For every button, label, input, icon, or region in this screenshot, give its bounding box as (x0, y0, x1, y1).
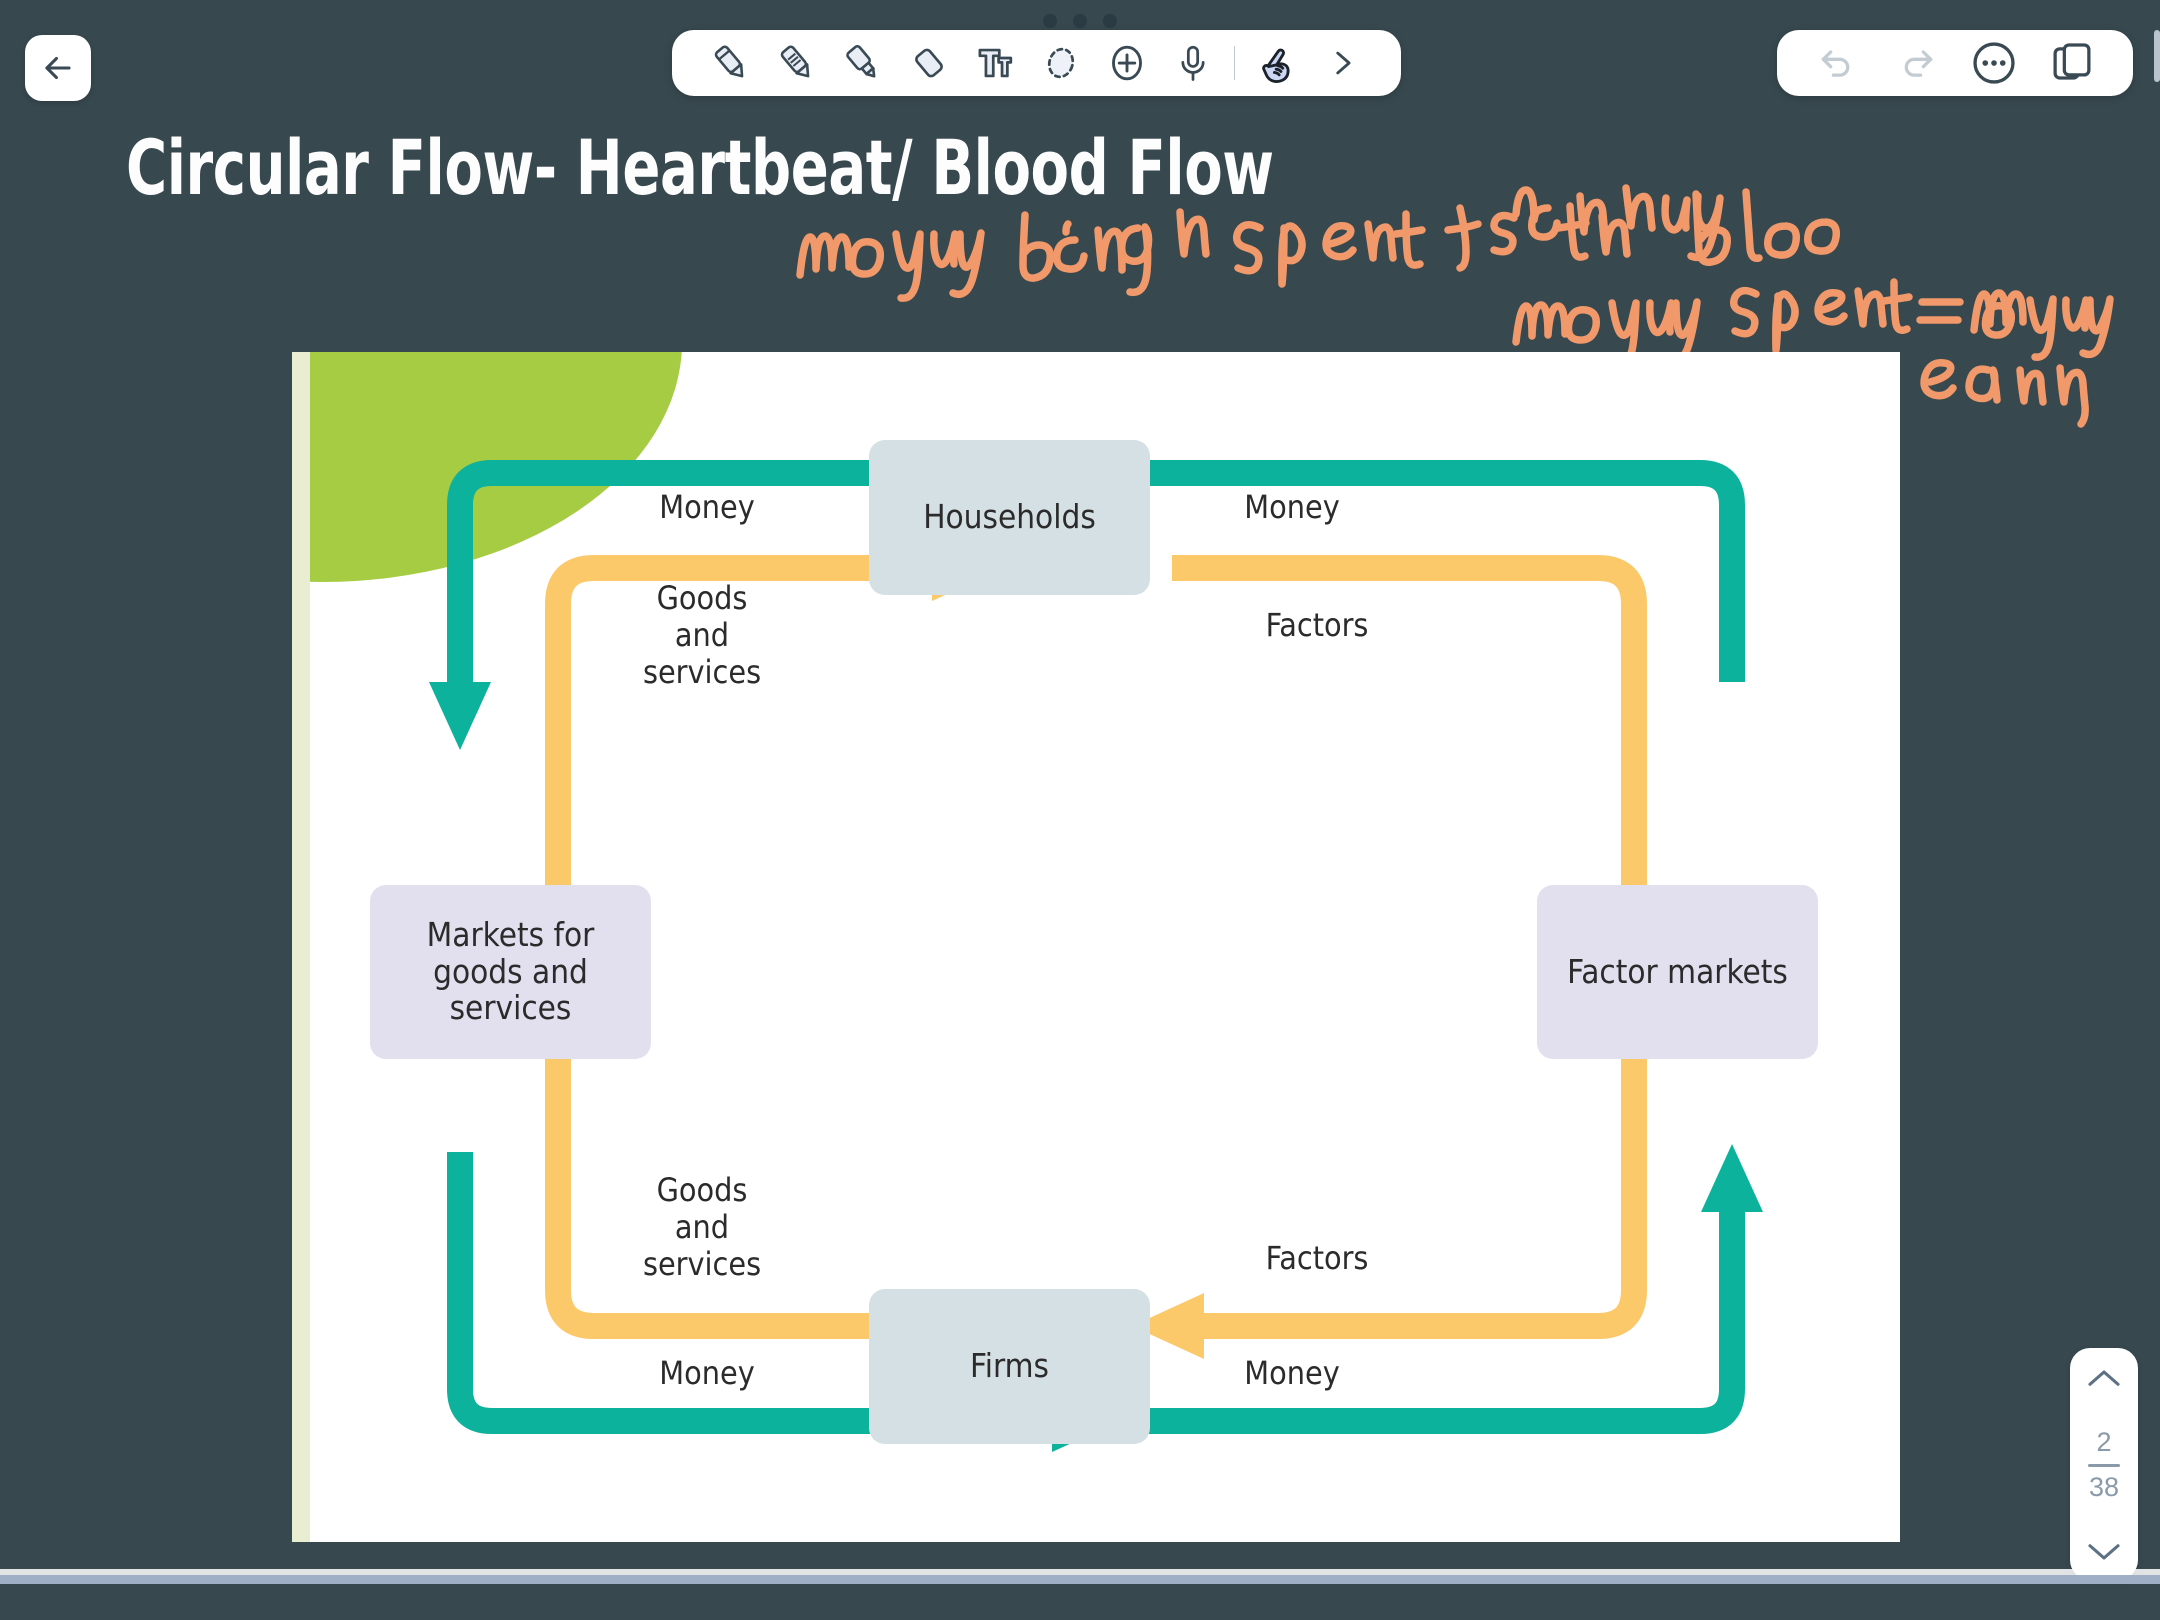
node-label: Factor markets (1567, 954, 1788, 991)
handwriting-stroke (1884, 348, 2114, 448)
page-down-button[interactable] (2083, 1536, 2125, 1566)
drag-dot (1103, 14, 1117, 28)
total-pages: 38 (2088, 1472, 2120, 1503)
chevron-right-glyph (1325, 46, 1359, 80)
redo-button[interactable] (1877, 33, 1955, 93)
page-navigator: 2 38 (2070, 1348, 2138, 1580)
hand-pointer-glyph (1252, 39, 1300, 87)
more-menu-icon (1969, 38, 2019, 88)
undo-icon (1816, 41, 1860, 85)
page-divider (2088, 1464, 2120, 1467)
back-button[interactable] (25, 35, 91, 101)
chevron-down-icon (2083, 1536, 2125, 1566)
vertical-scrollbar[interactable] (2154, 30, 2160, 82)
redo-icon (1894, 41, 1938, 85)
node-firms: Firms (869, 1289, 1150, 1444)
highlighter-glyph (841, 41, 885, 85)
pencil-icon[interactable] (764, 33, 830, 93)
flow-label-top-right-money: Money (1197, 489, 1387, 526)
notes-app-window: Circular Flow- Heartbeat/ Blood Flow (0, 0, 2160, 1620)
pages-icon (2049, 40, 2095, 86)
flow-label-bottom-left-goods: Goods and services (592, 1172, 812, 1282)
highlighter-icon[interactable] (830, 33, 896, 93)
page-indicator: 2 38 (2088, 1427, 2120, 1502)
node-factor-markets: Factor markets (1537, 885, 1818, 1059)
text-tt-glyph (972, 40, 1018, 86)
node-label: Markets for goods and services (427, 917, 595, 1028)
ink-note-2b (1990, 282, 2160, 417)
undo-button[interactable] (1799, 33, 1877, 93)
node-households: Households (869, 440, 1150, 595)
toolbar-divider (1234, 46, 1235, 80)
hand-tool-icon[interactable] (1243, 33, 1309, 93)
horizontal-scrollbar[interactable] (0, 1575, 2160, 1584)
lasso-select-icon[interactable] (1028, 33, 1094, 93)
plus-circle-glyph (1104, 40, 1150, 86)
flow-label-top-right-factors: Factors (1217, 607, 1417, 644)
handwriting-stroke (1990, 282, 2160, 412)
handwriting-stroke (1476, 190, 1896, 290)
more-menu-button[interactable] (1955, 33, 2033, 93)
ink-note-3 (1884, 348, 2114, 453)
flow-label-top-left-goods: Goods and services (592, 580, 812, 690)
drag-dot (1073, 14, 1087, 28)
mic-glyph (1171, 41, 1215, 85)
pencil-glyph (775, 41, 819, 85)
flow-label-bottom-right-factors: Factors (1217, 1240, 1417, 1277)
page-title: Circular Flow- Heartbeat/ Blood Flow (126, 130, 1274, 206)
drawing-toolbar (672, 30, 1401, 96)
microphone-icon[interactable] (1160, 33, 1226, 93)
ink-note-1b (1476, 190, 1896, 295)
flow-label-bottom-left-money: Money (612, 1355, 802, 1392)
window-drag-handle[interactable] (1043, 14, 1117, 28)
pen-glyph (709, 41, 753, 85)
drag-dot (1043, 14, 1057, 28)
circular-flow-diagram: Households Markets for goods and service… (292, 352, 1900, 1542)
page-up-button[interactable] (2083, 1364, 2125, 1394)
text-icon[interactable] (962, 33, 1028, 93)
flow-label-bottom-right-money: Money (1197, 1355, 1387, 1392)
pen-icon[interactable] (698, 33, 764, 93)
pages-button[interactable] (2033, 33, 2111, 93)
eraser-glyph (907, 41, 951, 85)
add-icon[interactable] (1094, 33, 1160, 93)
back-arrow-icon (39, 49, 77, 87)
chevron-up-icon (2083, 1364, 2125, 1394)
eraser-icon[interactable] (896, 33, 962, 93)
history-toolbar (1777, 30, 2133, 96)
node-label: Firms (970, 1348, 1049, 1385)
chevron-right-icon[interactable] (1309, 33, 1375, 93)
node-markets-for-goods-and-services: Markets for goods and services (370, 885, 651, 1059)
flow-label-top-left-money: Money (612, 489, 802, 526)
current-page: 2 (2088, 1427, 2120, 1458)
lasso-glyph (1039, 41, 1083, 85)
slide-canvas[interactable]: Households Markets for goods and service… (292, 352, 1900, 1542)
node-label: Households (923, 499, 1096, 536)
